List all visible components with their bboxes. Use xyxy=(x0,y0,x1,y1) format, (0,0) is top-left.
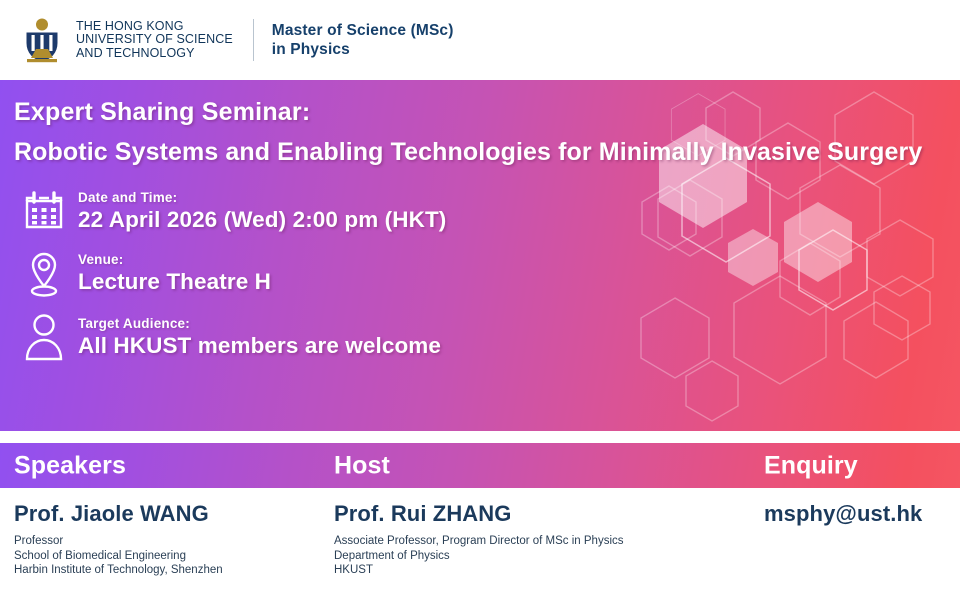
university-name-line-1: THE HONG KONG xyxy=(76,20,233,34)
speaker-affiliation-line-2: School of Biomedical Engineering xyxy=(14,549,223,564)
speaker-affiliation-line-1: Professor xyxy=(14,534,223,549)
host-name: Prof. Rui ZHANG xyxy=(334,501,624,527)
program-title-line-2: in Physics xyxy=(272,40,454,59)
info-label-venue: Venue: xyxy=(78,252,271,267)
info-value-date: 22 April 2026 (Wed) 2:00 pm (HKT) xyxy=(78,207,446,233)
program-title: Master of Science (MSc) in Physics xyxy=(272,21,454,59)
bottom-section: Prof. Jiaole WANG Professor School of Bi… xyxy=(0,488,960,600)
person-icon xyxy=(16,313,72,361)
stripe-label-enquiry: Enquiry xyxy=(764,451,858,480)
stripe-label-host: Host xyxy=(334,451,390,480)
info-text-date: Date and Time: 22 April 2026 (Wed) 2:00 … xyxy=(78,190,446,233)
info-row-venue: Venue: Lecture Theatre H xyxy=(8,249,960,297)
info-text-audience: Target Audience: All HKUST members are w… xyxy=(78,316,441,359)
speaker-affiliation: Professor School of Biomedical Engineeri… xyxy=(14,534,223,578)
speaker-block: Prof. Jiaole WANG Professor School of Bi… xyxy=(14,501,223,578)
host-affiliation: Associate Professor, Program Director of… xyxy=(334,534,624,578)
host-block: Prof. Rui ZHANG Associate Professor, Pro… xyxy=(334,501,624,578)
stripe-label-speakers: Speakers xyxy=(14,451,126,480)
info-value-audience: All HKUST members are welcome xyxy=(78,333,441,359)
info-label-date: Date and Time: xyxy=(78,190,446,205)
calendar-icon xyxy=(16,189,72,233)
university-name: THE HONG KONG UNIVERSITY OF SCIENCE AND … xyxy=(76,20,233,61)
info-label-audience: Target Audience: xyxy=(78,316,441,331)
hkust-emblem-icon xyxy=(14,16,70,64)
info-value-venue: Lecture Theatre H xyxy=(78,269,271,295)
speaker-affiliation-line-3: Harbin Institute of Technology, Shenzhen xyxy=(14,563,223,578)
host-affiliation-line-1: Associate Professor, Program Director of… xyxy=(334,534,624,549)
section-stripe: Speakers Host Enquiry xyxy=(0,443,960,488)
enquiry-block: msphy@ust.hk xyxy=(764,501,922,527)
enquiry-email[interactable]: msphy@ust.hk xyxy=(764,501,922,527)
seminar-banner: Expert Sharing Seminar: Robotic Systems … xyxy=(0,80,960,431)
info-text-venue: Venue: Lecture Theatre H xyxy=(78,252,271,295)
university-name-line-3: AND TECHNOLOGY xyxy=(76,47,233,61)
host-affiliation-line-2: Department of Physics xyxy=(334,549,624,564)
banner-content: Expert Sharing Seminar: Robotic Systems … xyxy=(0,80,960,361)
seminar-poster: THE HONG KONG UNIVERSITY OF SCIENCE AND … xyxy=(0,0,960,600)
university-name-line-2: UNIVERSITY OF SCIENCE xyxy=(76,33,233,47)
seminar-title-line-2: Robotic Systems and Enabling Technologie… xyxy=(8,138,960,167)
speaker-name: Prof. Jiaole WANG xyxy=(14,501,223,527)
info-row-date: Date and Time: 22 April 2026 (Wed) 2:00 … xyxy=(8,189,960,233)
location-pin-icon xyxy=(16,249,72,297)
seminar-title-line-1: Expert Sharing Seminar: xyxy=(8,98,960,127)
host-affiliation-line-3: HKUST xyxy=(334,563,624,578)
header-divider xyxy=(253,19,254,61)
program-title-line-1: Master of Science (MSc) xyxy=(272,21,454,40)
info-row-audience: Target Audience: All HKUST members are w… xyxy=(8,313,960,361)
page-header: THE HONG KONG UNIVERSITY OF SCIENCE AND … xyxy=(0,0,960,80)
